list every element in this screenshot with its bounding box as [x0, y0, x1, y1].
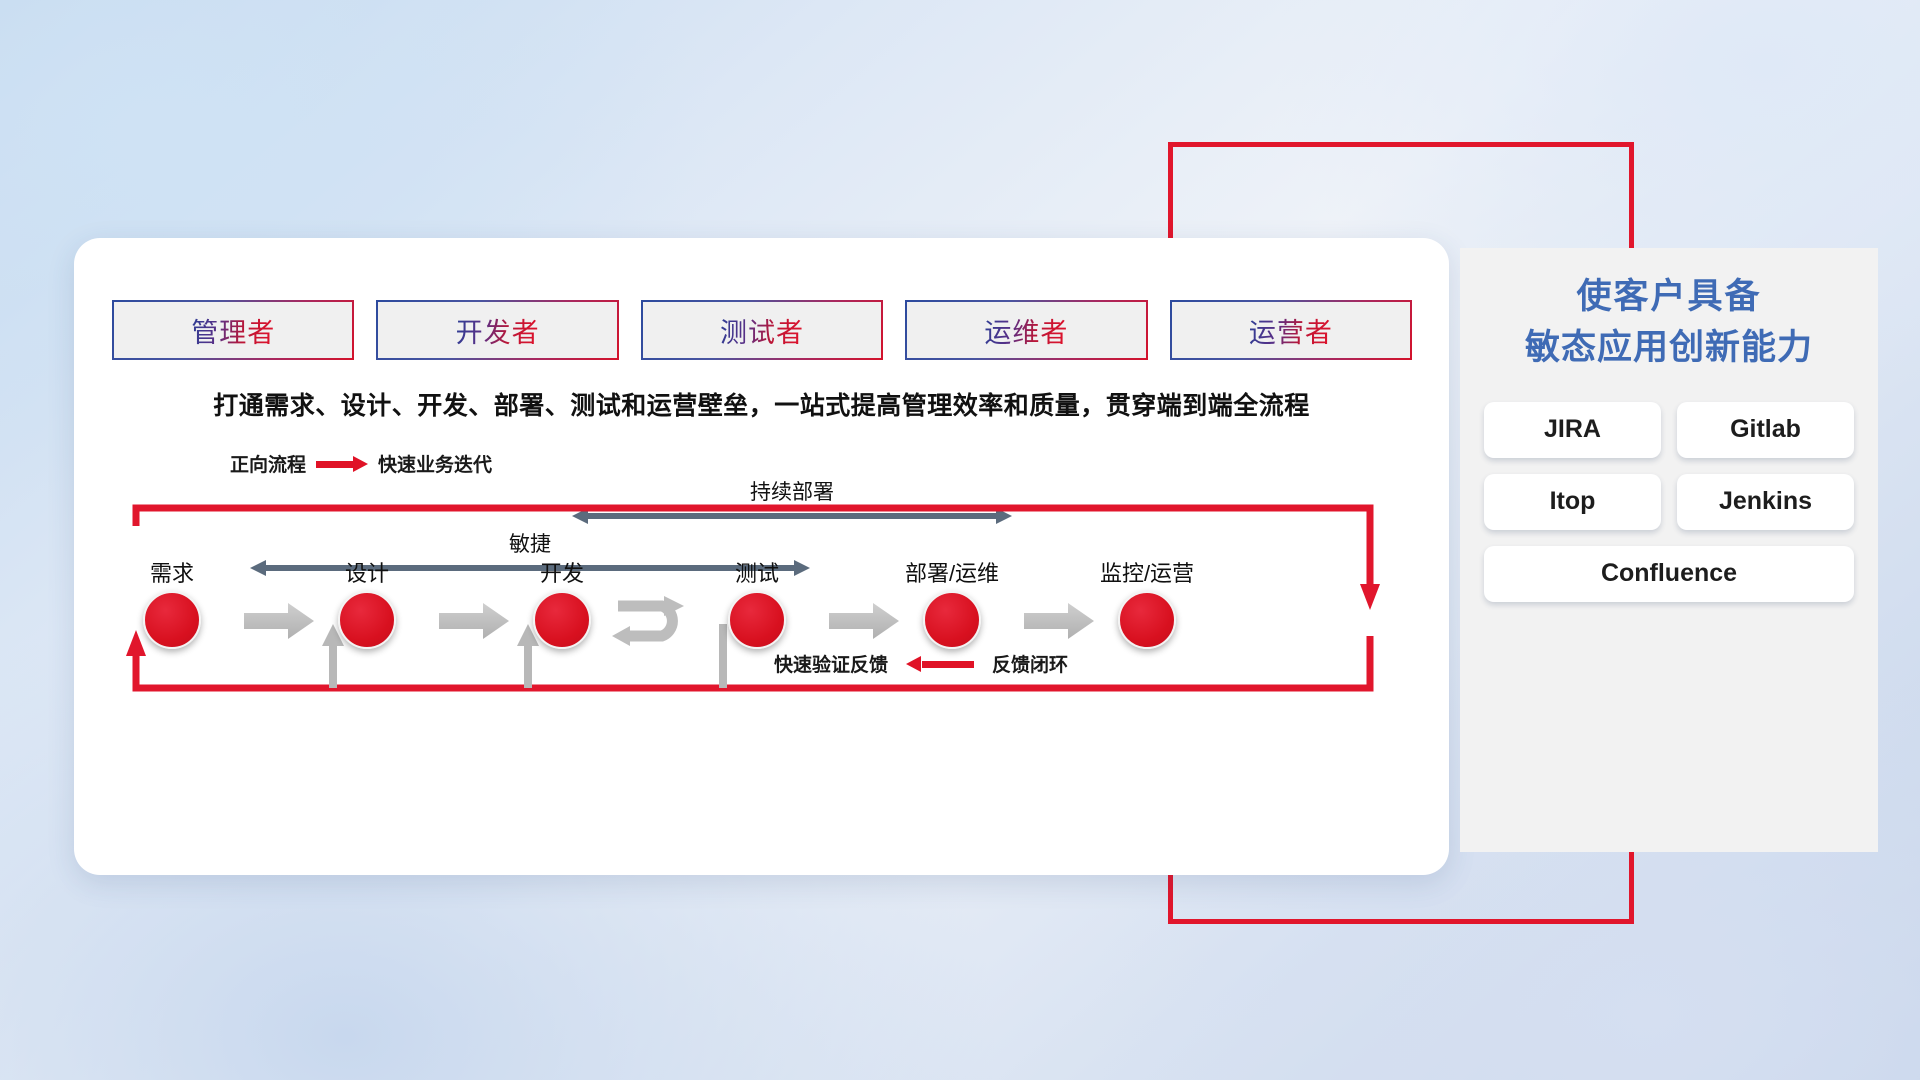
- role-label: 运维者: [984, 311, 1068, 350]
- stage-label: 开发: [502, 556, 622, 588]
- arrow-right-icon: [316, 456, 368, 472]
- toolchain-panel: 使客户具备 敏态应用创新能力 JIRA Gitlab Itop Jenkins …: [1460, 248, 1878, 852]
- stage-label: 部署/运维: [892, 556, 1012, 588]
- chevron-right-icon: [244, 602, 316, 640]
- role-label: 开发者: [456, 311, 540, 350]
- double-arrow-icon: [572, 508, 1012, 524]
- legend-feedback-left-label: 快速验证反馈: [774, 650, 888, 677]
- slide-canvas: 管理者 开发者 测试者 运维者 运营者 打通需求、设计、开发、部署、测试和运营壁…: [0, 0, 1920, 1080]
- chevron-right-icon: [1024, 602, 1096, 640]
- arrow-left-icon: [906, 656, 974, 672]
- stage-dot: [143, 591, 201, 649]
- tool-card-jira[interactable]: JIRA: [1484, 402, 1661, 458]
- stage-dot: [728, 591, 786, 649]
- tool-card-itop[interactable]: Itop: [1484, 474, 1661, 530]
- devops-pipeline: 需求 设计: [112, 556, 1412, 706]
- stage-label: 测试: [697, 556, 817, 588]
- panel-headline: 使客户具备 敏态应用创新能力: [1484, 272, 1854, 374]
- role-label: 管理者: [191, 311, 275, 350]
- role-label: 运营者: [1249, 311, 1333, 350]
- main-content-card: 管理者 开发者 测试者 运维者 运营者 打通需求、设计、开发、部署、测试和运营壁…: [74, 238, 1449, 875]
- legend-feedback-loop: 快速验证反馈 反馈闭环: [774, 650, 1068, 677]
- stage-label: 监控/运营: [1087, 556, 1207, 588]
- loop-back-icon: [600, 588, 696, 654]
- stage-testing[interactable]: 测试: [697, 556, 817, 649]
- role-box-tester[interactable]: 测试者: [641, 300, 883, 360]
- span-continuous-deployment: 持续部署: [572, 476, 1012, 524]
- stage-deploy-ops[interactable]: 部署/运维: [892, 556, 1012, 649]
- span-label: 敏捷: [250, 528, 810, 558]
- stage-requirements[interactable]: 需求: [112, 556, 232, 649]
- stage-dot: [1118, 591, 1176, 649]
- stage-dot: [338, 591, 396, 649]
- panel-headline-line2: 敏态应用创新能力: [1484, 323, 1854, 374]
- stage-design[interactable]: 设计: [307, 556, 427, 649]
- stage-label: 设计: [307, 556, 427, 588]
- chevron-right-icon: [439, 602, 511, 640]
- stage-monitor-operate[interactable]: 监控/运营: [1087, 556, 1207, 649]
- role-label: 测试者: [720, 311, 804, 350]
- role-box-ops[interactable]: 运维者: [905, 300, 1147, 360]
- legend-forward-flow: 正向流程 快速业务迭代: [230, 450, 492, 477]
- stage-dot: [923, 591, 981, 649]
- legend-feedback-right-label: 反馈闭环: [992, 650, 1068, 677]
- tool-card-grid: JIRA Gitlab Itop Jenkins Confluence: [1484, 402, 1854, 602]
- tool-card-confluence[interactable]: Confluence: [1484, 546, 1854, 602]
- stage-label: 需求: [112, 556, 232, 588]
- tool-card-gitlab[interactable]: Gitlab: [1677, 402, 1854, 458]
- legend-forward-left-label: 正向流程: [230, 450, 306, 477]
- tool-card-jenkins[interactable]: Jenkins: [1677, 474, 1854, 530]
- panel-headline-line1: 使客户具备: [1484, 272, 1854, 323]
- span-label: 持续部署: [572, 476, 1012, 506]
- role-box-row: 管理者 开发者 测试者 运维者 运营者: [112, 300, 1412, 360]
- tagline-text: 打通需求、设计、开发、部署、测试和运营壁垒，一站式提高管理效率和质量，贯穿端到端…: [74, 386, 1449, 422]
- role-box-operations[interactable]: 运营者: [1170, 300, 1412, 360]
- chevron-right-icon: [829, 602, 901, 640]
- role-box-developer[interactable]: 开发者: [376, 300, 618, 360]
- role-box-manager[interactable]: 管理者: [112, 300, 354, 360]
- stage-dot: [533, 591, 591, 649]
- legend-forward-right-label: 快速业务迭代: [378, 450, 492, 477]
